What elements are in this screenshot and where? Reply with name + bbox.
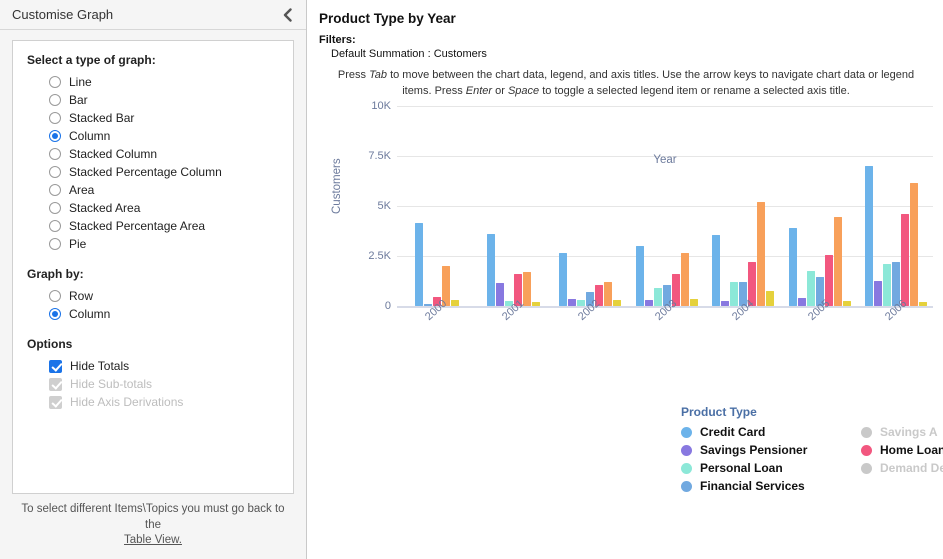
y-axis-tick-label: 2.5K	[368, 250, 391, 262]
accessibility-hint: Press Tab to move between the chart data…	[337, 68, 915, 100]
table-view-link[interactable]: Table View.	[124, 534, 182, 546]
legend-color-swatch	[681, 463, 692, 474]
bar[interactable]	[690, 299, 698, 306]
bar[interactable]	[645, 300, 653, 305]
radio-indicator	[49, 202, 61, 214]
bar[interactable]	[604, 282, 612, 306]
graph-by-label: Graph by:	[27, 267, 279, 281]
legend-item[interactable]: Savings A	[861, 425, 943, 439]
bar-group[interactable]	[712, 106, 775, 306]
legend-item-label: Financial Services	[700, 479, 805, 493]
y-axis-ticks: 02.5K5K7.5K10K	[347, 106, 391, 306]
sidebar-options-panel: Select a type of graph: Line Bar Stacked…	[12, 40, 294, 494]
legend-color-swatch	[861, 427, 872, 438]
sidebar-title: Customise Graph	[12, 7, 278, 22]
bar[interactable]	[568, 299, 576, 306]
radio-indicator	[49, 112, 61, 124]
legend-title: Product Type	[681, 405, 943, 419]
bar[interactable]	[532, 302, 540, 306]
bar[interactable]	[843, 301, 851, 306]
chart-legend: Product Type Credit CardSavings ASavings…	[681, 405, 943, 493]
bar[interactable]	[730, 282, 738, 306]
chart-panel: Product Type by Year Filters: Default Su…	[307, 0, 943, 559]
bar-group[interactable]	[487, 106, 541, 306]
bar[interactable]	[757, 202, 765, 306]
hint-part-or: or	[492, 85, 508, 97]
option-label: Stacked Percentage Area	[69, 219, 205, 233]
bar[interactable]	[834, 217, 842, 306]
legend-item[interactable]: Financial Services	[681, 479, 861, 493]
legend-item-label: Personal Loan	[700, 461, 783, 475]
hint-key-enter: Enter	[466, 85, 492, 97]
graph-type-option-stacked-bar[interactable]: Stacked Bar	[27, 109, 279, 127]
y-axis-tick-label: 5K	[378, 200, 391, 212]
bar-group[interactable]	[865, 106, 928, 306]
option-hide-totals[interactable]: Hide Totals	[27, 357, 279, 375]
chart-bars[interactable]	[397, 106, 933, 306]
legend-item-label: Credit Card	[700, 425, 765, 439]
radio-indicator	[49, 94, 61, 106]
x-axis-title[interactable]: Year	[397, 154, 933, 166]
filters-label: Filters:	[319, 34, 933, 46]
radio-indicator	[49, 184, 61, 196]
bar-group[interactable]	[636, 106, 699, 306]
radio-indicator	[49, 220, 61, 232]
bar-group[interactable]	[559, 106, 622, 306]
legend-item-label: Savings Pensioner	[700, 443, 807, 457]
legend-color-swatch	[861, 445, 872, 456]
page-title: Product Type by Year	[319, 11, 933, 26]
option-label: Pie	[69, 237, 86, 251]
option-label: Hide Totals	[70, 359, 129, 373]
bar[interactable]	[721, 301, 729, 306]
chart-plot-area[interactable]: Customers 02.5K5K7.5K10K 200020012002200…	[333, 106, 933, 361]
option-label: Row	[69, 289, 93, 303]
bar[interactable]	[919, 302, 927, 306]
hint-key-tab: Tab	[369, 69, 387, 81]
checkbox-indicator-checked	[49, 360, 62, 373]
legend-item-label: Savings A	[880, 425, 938, 439]
legend-color-swatch	[681, 445, 692, 456]
graph-type-option-area[interactable]: Area	[27, 181, 279, 199]
bar[interactable]	[451, 300, 459, 306]
legend-color-swatch	[681, 427, 692, 438]
bar[interactable]	[681, 253, 689, 306]
option-label: Column	[69, 129, 110, 143]
option-hide-sub-totals: Hide Sub-totals	[27, 375, 279, 393]
chevron-left-icon[interactable]	[278, 6, 296, 24]
bar[interactable]	[807, 271, 815, 306]
y-axis-tick-label: 7.5K	[368, 150, 391, 162]
checkbox-indicator-disabled	[49, 378, 62, 391]
options-checkbox-group: Hide Totals Hide Sub-totals Hide Axis De…	[27, 357, 279, 411]
graph-by-radio-group: Row Column	[27, 287, 279, 323]
radio-indicator	[49, 166, 61, 178]
legend-item[interactable]: Personal Loan	[681, 461, 861, 475]
bar-group[interactable]	[789, 106, 852, 306]
bar[interactable]	[654, 288, 662, 306]
legend-color-swatch	[861, 463, 872, 474]
graph-type-option-bar[interactable]: Bar	[27, 91, 279, 109]
legend-color-swatch	[681, 481, 692, 492]
graph-by-option-column[interactable]: Column	[27, 305, 279, 323]
legend-item[interactable]: Demand Deposit	[861, 461, 943, 475]
legend-item[interactable]: Savings Pensioner	[681, 443, 861, 457]
graph-type-option-pie[interactable]: Pie	[27, 235, 279, 253]
bar[interactable]	[825, 255, 833, 306]
y-axis-title[interactable]: Customers	[331, 158, 343, 214]
option-hide-axis-derivations: Hide Axis Derivations	[27, 393, 279, 411]
graph-type-option-line[interactable]: Line	[27, 73, 279, 91]
radio-indicator	[49, 148, 61, 160]
filter-item-default-summation: Default Summation : Customers	[331, 48, 933, 60]
bar[interactable]	[577, 300, 585, 306]
bar[interactable]	[874, 281, 882, 306]
graph-type-radio-group: Line Bar Stacked Bar Column Stacked Colu…	[27, 73, 279, 253]
bar[interactable]	[487, 234, 495, 306]
app-root: Customise Graph Select a type of graph: …	[0, 0, 943, 559]
bar[interactable]	[865, 166, 873, 306]
sidebar-header: Customise Graph	[0, 0, 306, 30]
sidebar-footer: To select different Items\Topics you mus…	[0, 494, 306, 559]
bar[interactable]	[901, 214, 909, 306]
customise-graph-sidebar: Customise Graph Select a type of graph: …	[0, 0, 307, 559]
bar-group[interactable]	[415, 106, 460, 306]
bar[interactable]	[766, 291, 774, 306]
option-label: Stacked Bar	[69, 111, 134, 125]
option-label: Column	[69, 307, 110, 321]
x-axis-ticks: 2000200120022003200420052006	[397, 308, 933, 348]
y-axis-tick-label: 0	[385, 300, 391, 312]
sidebar-footer-text: To select different Items\Topics you mus…	[21, 503, 284, 531]
radio-indicator	[49, 76, 61, 88]
bar[interactable]	[496, 283, 504, 306]
legend-item-label: Demand Deposit	[880, 461, 943, 475]
option-label: Hide Sub-totals	[70, 377, 152, 391]
bar[interactable]	[559, 253, 567, 305]
option-label: Area	[69, 183, 94, 197]
bar[interactable]	[636, 246, 644, 306]
bar[interactable]	[883, 264, 891, 306]
option-label: Line	[69, 75, 92, 89]
bar[interactable]	[712, 235, 720, 306]
hint-key-space: Space	[508, 85, 539, 97]
bar[interactable]	[613, 300, 621, 305]
option-label: Bar	[69, 93, 88, 107]
legend-items: Credit CardSavings ASavings BSavings Pen…	[681, 425, 943, 493]
radio-indicator	[49, 238, 61, 250]
graph-type-option-stacked-column[interactable]: Stacked Column	[27, 145, 279, 163]
legend-item-label: Home Loan	[880, 443, 943, 457]
radio-indicator-selected	[49, 130, 61, 142]
hint-part-3: to toggle a selected legend item or rena…	[539, 85, 850, 97]
radio-indicator	[49, 290, 61, 302]
legend-item[interactable]: Home Loan	[861, 443, 943, 457]
bar[interactable]	[798, 298, 806, 306]
bar[interactable]	[789, 228, 797, 306]
graph-type-option-column[interactable]: Column	[27, 127, 279, 145]
radio-indicator-selected	[49, 308, 61, 320]
bar[interactable]	[910, 183, 918, 306]
option-label: Stacked Column	[69, 147, 157, 161]
legend-item[interactable]: Credit Card	[681, 425, 861, 439]
graph-type-option-stacked-percentage-column[interactable]: Stacked Percentage Column	[27, 163, 279, 181]
checkbox-indicator-disabled	[49, 396, 62, 409]
option-label: Hide Axis Derivations	[70, 395, 183, 409]
y-axis-tick-label: 10K	[371, 100, 391, 112]
option-label: Stacked Area	[69, 201, 140, 215]
bar[interactable]	[415, 223, 423, 306]
graph-by-option-row[interactable]: Row	[27, 287, 279, 305]
bar[interactable]	[523, 272, 531, 306]
graph-type-option-stacked-area[interactable]: Stacked Area	[27, 199, 279, 217]
hint-part-1: Press	[338, 69, 369, 81]
graph-type-option-stacked-percentage-area[interactable]: Stacked Percentage Area	[27, 217, 279, 235]
options-label: Options	[27, 337, 279, 351]
option-label: Stacked Percentage Column	[69, 165, 222, 179]
graph-type-label: Select a type of graph:	[27, 53, 279, 67]
